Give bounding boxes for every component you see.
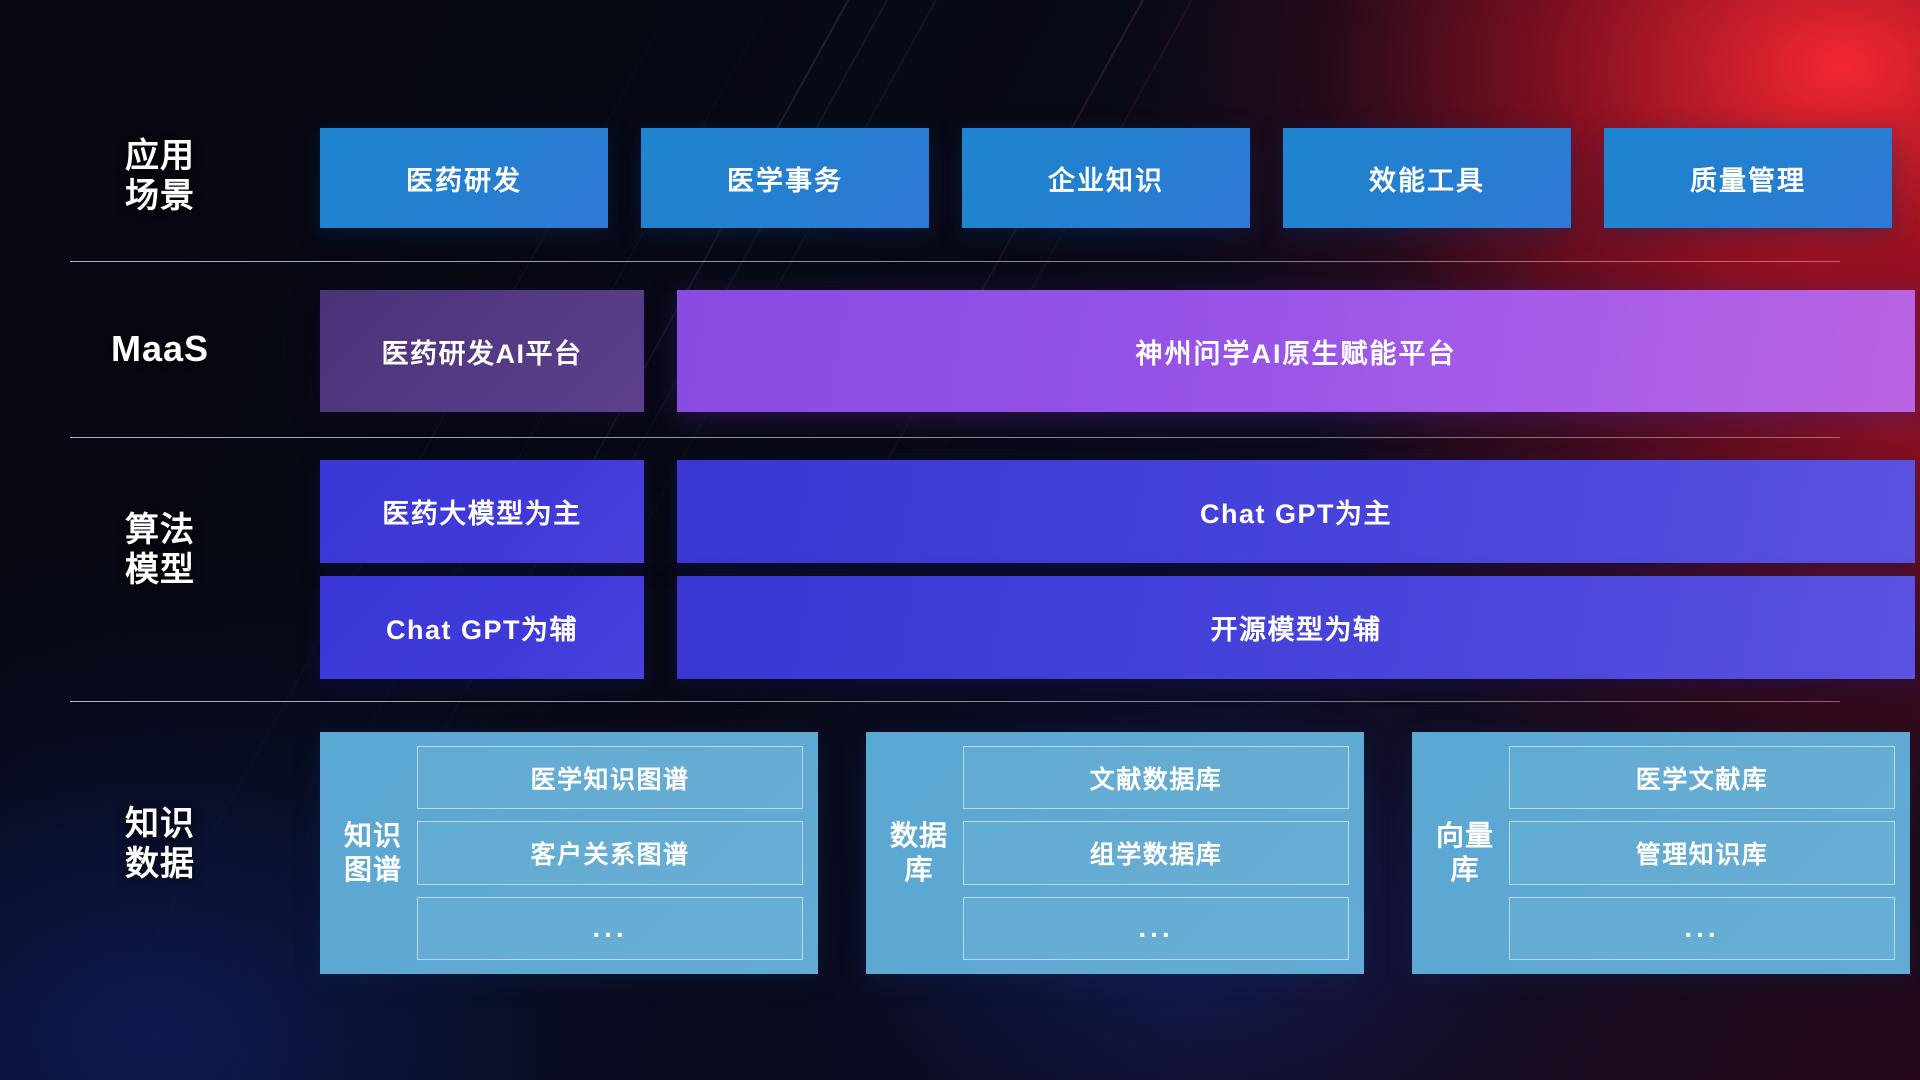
row-label-line-1: 应用 [70,136,250,176]
algorithm-box-label: 医药大模型为主 [382,492,582,531]
maas-box-label: 神州问学AI原生赋能平台 [1136,332,1457,371]
algorithm-box-opensource-secondary[interactable]: 开源模型为辅 [677,576,1915,679]
knowledge-group-title: 向量库 [1427,746,1503,960]
algorithm-box-chatgpt-secondary[interactable]: Chat GPT为辅 [320,576,644,679]
row-label-application-scenarios: 应用 场景 [70,136,250,216]
scenario-box-label: 医药研发 [406,159,522,198]
row-label-line-2: 场景 [70,176,250,216]
knowledge-group-title: 数据库 [881,746,957,960]
algorithm-box-grid: 医药大模型为主 Chat GPT为主 Chat GPT为辅 开源模型为辅 [320,460,1915,679]
algorithm-box-label: Chat GPT为主 [1200,492,1392,531]
divider-algorithm-knowledge [70,701,1840,702]
algorithm-row-primary: 医药大模型为主 Chat GPT为主 [320,460,1915,563]
algorithm-box-chatgpt-primary[interactable]: Chat GPT为主 [677,460,1915,563]
row-label-line-2: 模型 [70,550,250,590]
scenario-box-label: 效能工具 [1369,159,1485,198]
knowledge-item-customer-relation-graph[interactable]: 客户关系图谱 [417,821,803,884]
scenario-box-list: 医药研发 医学事务 企业知识 效能工具 质量管理 [320,128,1892,228]
divider-maas-algorithm [70,437,1840,438]
row-label-knowledge-data: 知识 数据 [70,804,250,884]
knowledge-item-medical-literature-store[interactable]: 医学文献库 [1509,746,1895,809]
maas-box-shenzhou-wenxue-platform[interactable]: 神州问学AI原生赋能平台 [677,290,1915,412]
algorithm-row-secondary: Chat GPT为辅 开源模型为辅 [320,576,1915,679]
knowledge-group-database[interactable]: 数据库 文献数据库 组学数据库 ... [866,732,1364,974]
knowledge-item-literature-database[interactable]: 文献数据库 [963,746,1349,809]
knowledge-item-list: 医学知识图谱 客户关系图谱 ... [411,746,803,960]
slide-canvas: 应用 场景 医药研发 医学事务 企业知识 效能工具 质量管理 [0,0,1920,1080]
knowledge-group-vector-store[interactable]: 向量库 医学文献库 管理知识库 ... [1412,732,1910,974]
scenario-box-label: 企业知识 [1048,159,1164,198]
scenario-box-medicine-rd[interactable]: 医药研发 [320,128,608,228]
knowledge-item-management-knowledge-store[interactable]: 管理知识库 [1509,821,1895,884]
knowledge-item-medical-knowledge-graph[interactable]: 医学知识图谱 [417,746,803,809]
maas-box-medicine-ai-platform[interactable]: 医药研发AI平台 [320,290,644,412]
scenario-box-label: 质量管理 [1690,159,1806,198]
maas-box-list: 医药研发AI平台 神州问学AI原生赋能平台 [320,290,1915,412]
row-label-maas: MaaS [70,328,250,370]
knowledge-item-more[interactable]: ... [417,897,803,960]
scenario-box-efficiency-tools[interactable]: 效能工具 [1283,128,1571,228]
knowledge-item-more[interactable]: ... [1509,897,1895,960]
row-label-line-1: 算法 [70,510,250,550]
maas-box-label: 医药研发AI平台 [382,332,583,371]
knowledge-group-list: 知识图谱 医学知识图谱 客户关系图谱 ... 数据库 文献数据库 组学数据库 .… [320,732,1910,974]
architecture-diagram: 应用 场景 医药研发 医学事务 企业知识 效能工具 质量管理 [0,0,1920,1080]
knowledge-item-list: 文献数据库 组学数据库 ... [957,746,1349,960]
knowledge-item-omics-database[interactable]: 组学数据库 [963,821,1349,884]
row-label-algorithm-models: 算法 模型 [70,510,250,590]
row-label-line-2: 数据 [70,844,250,884]
knowledge-group-knowledge-graph[interactable]: 知识图谱 医学知识图谱 客户关系图谱 ... [320,732,818,974]
algorithm-box-label: Chat GPT为辅 [386,608,578,647]
knowledge-item-list: 医学文献库 管理知识库 ... [1503,746,1895,960]
scenario-box-quality-management[interactable]: 质量管理 [1604,128,1892,228]
divider-scenarios-maas [70,261,1840,262]
algorithm-box-label: 开源模型为辅 [1211,608,1382,647]
knowledge-item-more[interactable]: ... [963,897,1349,960]
scenario-box-enterprise-knowledge[interactable]: 企业知识 [962,128,1250,228]
knowledge-group-title: 知识图谱 [335,746,411,960]
scenario-box-label: 医学事务 [727,159,843,198]
algorithm-box-medicine-llm-primary[interactable]: 医药大模型为主 [320,460,644,563]
row-label-line-1: 知识 [70,804,250,844]
scenario-box-medical-affairs[interactable]: 医学事务 [641,128,929,228]
